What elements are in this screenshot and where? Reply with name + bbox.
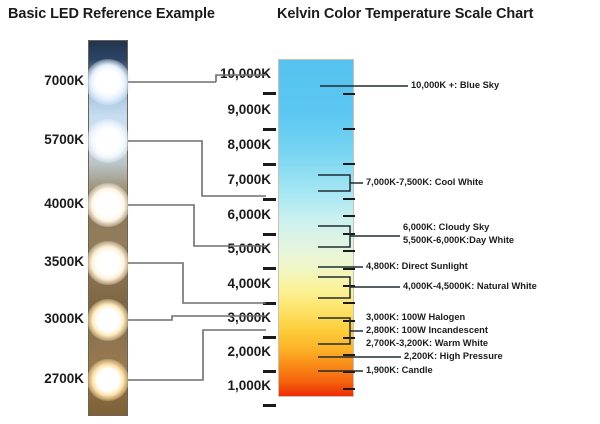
kelvin-axis-label-1000k: 1,000K bbox=[191, 378, 271, 393]
kelvin-axis-label-10000k: 10,000K bbox=[191, 66, 271, 81]
led-temp-label-3500k: 3500K bbox=[28, 254, 84, 269]
led-strip-image bbox=[88, 40, 128, 416]
kelvin-bar-tick-right bbox=[343, 354, 355, 356]
annotation-label: 3,000K: 100W Halogen bbox=[366, 312, 465, 322]
kelvin-bar-tick-right bbox=[343, 233, 355, 235]
kelvin-axis-tick-left bbox=[263, 92, 276, 95]
kelvin-axis-label-7000k: 7,000K bbox=[191, 172, 271, 187]
annotation-label: 4,800K: Direct Sunlight bbox=[366, 261, 468, 271]
kelvin-bar-tick-right bbox=[343, 285, 355, 287]
kelvin-bar-tick-right bbox=[343, 250, 355, 252]
annotation-label: 7,000K-7,500K: Cool White bbox=[366, 177, 483, 187]
annotation-label: 1,900K: Candle bbox=[366, 365, 433, 375]
kelvin-axis-tick-left bbox=[263, 302, 276, 305]
led-temp-label-7000k: 7000K bbox=[28, 73, 84, 88]
kelvin-bar-tick-right bbox=[343, 337, 355, 339]
kelvin-bar-tick-right bbox=[343, 320, 355, 322]
kelvin-axis-label-4000k: 4,000K bbox=[191, 276, 271, 291]
led-temp-label-5700k: 5700K bbox=[28, 132, 84, 147]
annotation-label: 2,700K-3,200K: Warm White bbox=[366, 338, 488, 348]
led-temp-label-3000k: 3000K bbox=[28, 311, 84, 326]
annotation-label: 10,000K +: Blue Sky bbox=[411, 80, 499, 90]
kelvin-axis-tick-left bbox=[263, 370, 276, 373]
kelvin-axis-tick-left bbox=[263, 198, 276, 201]
annotation-label: 5,500K-6,000K:Day White bbox=[403, 235, 514, 245]
annotation-label: 4,000K-4,5000K: Natural White bbox=[403, 281, 537, 291]
kelvin-bar-tick-right bbox=[343, 268, 355, 270]
annotation-label: 2,200K: High Pressure bbox=[404, 351, 503, 361]
led-temp-label-2700k: 2700K bbox=[28, 371, 84, 386]
kelvin-color-temperature-chart: Basic LED Reference Example Kelvin Color… bbox=[0, 0, 600, 424]
kelvin-axis-tick-left bbox=[263, 336, 276, 339]
kelvin-axis-label-5000k: 5,000K bbox=[191, 241, 271, 256]
led-reference-title: Basic LED Reference Example bbox=[8, 6, 215, 22]
kelvin-axis-tick-left bbox=[263, 128, 276, 131]
kelvin-axis-tick-left bbox=[263, 404, 276, 407]
kelvin-axis-tick-left bbox=[263, 163, 276, 166]
kelvin-bar-tick-right bbox=[343, 198, 355, 200]
kelvin-bar-tick-right bbox=[343, 388, 355, 390]
kelvin-bar-tick-right bbox=[343, 302, 355, 304]
kelvin-bar-tick-right bbox=[343, 163, 355, 165]
annotation-label: 6,000K: Cloudy Sky bbox=[403, 222, 489, 232]
annotation-label: 2,800K: 100W Incandescent bbox=[366, 325, 488, 335]
kelvin-gradient-bar bbox=[278, 59, 354, 397]
kelvin-scale-title: Kelvin Color Temperature Scale Chart bbox=[277, 6, 533, 22]
kelvin-axis-label-9000k: 9,000K bbox=[191, 102, 271, 117]
kelvin-axis-label-6000k: 6,000K bbox=[191, 207, 271, 222]
kelvin-bar-tick-right bbox=[343, 371, 355, 373]
kelvin-bar-tick-right bbox=[343, 215, 355, 217]
kelvin-axis-tick-left bbox=[263, 267, 276, 270]
led-temp-label-4000k: 4000K bbox=[28, 196, 84, 211]
kelvin-axis-label-8000k: 8,000K bbox=[191, 137, 271, 152]
kelvin-axis-tick-left bbox=[263, 233, 276, 236]
kelvin-axis-label-2000k: 2,000K bbox=[191, 344, 271, 359]
kelvin-bar-tick-right bbox=[343, 93, 355, 95]
kelvin-bar-tick-right bbox=[343, 128, 355, 130]
kelvin-axis-label-3000k: 3,000K bbox=[191, 310, 271, 325]
